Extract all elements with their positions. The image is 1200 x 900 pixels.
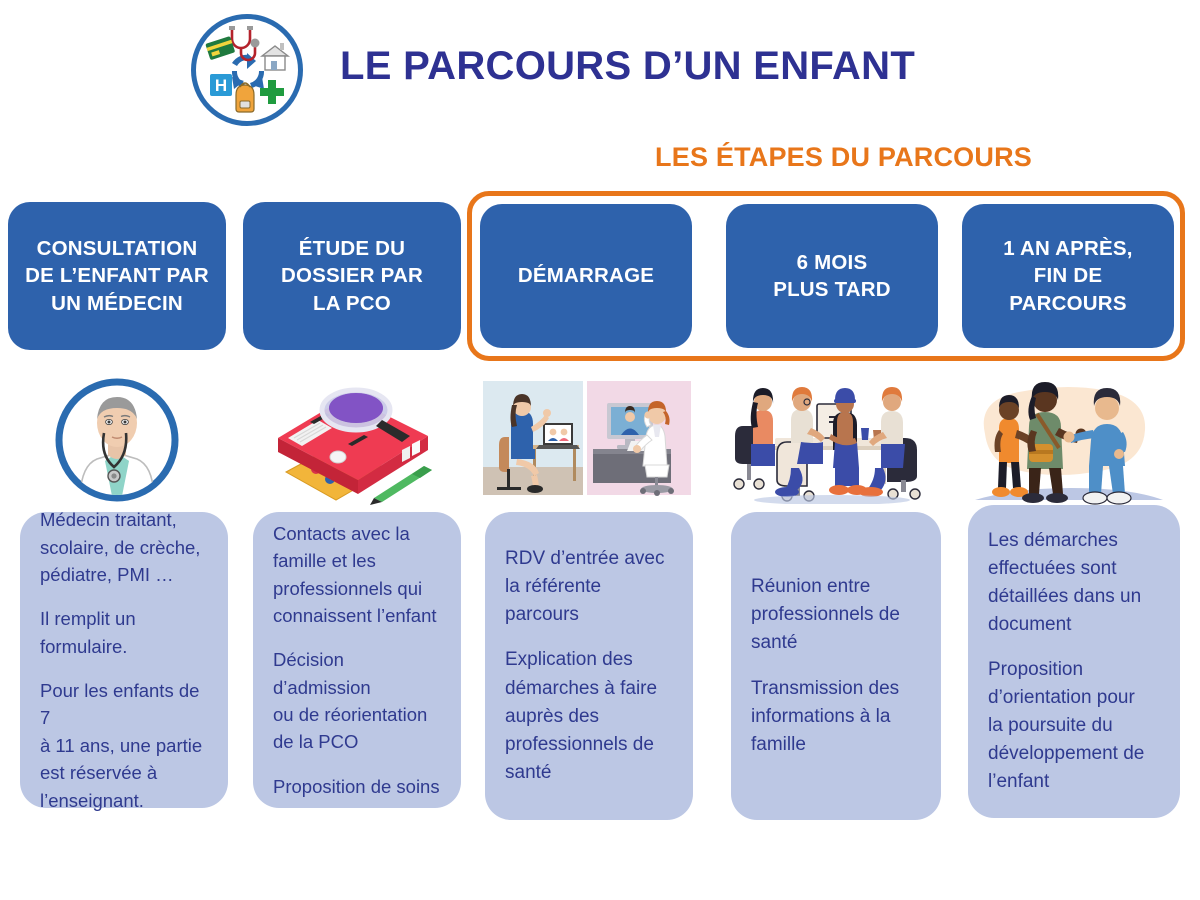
body-paragraph: Médecin traitant, scolaire, de crèche, p… [40,506,208,588]
step-body-box: Médecin traitant, scolaire, de crèche, p… [20,512,228,808]
step-column-consultation: CONSULTATION DE L’ENFANT PAR UN MÉDECIN [8,0,226,900]
step-header-label: 1 AN APRÈS, FIN DE PARCOURS [1003,235,1132,316]
patient-at-home-panel [483,381,583,495]
step-column-six-mois: 6 MOIS PLUS TARD [723,0,941,900]
meeting-participant [751,388,775,466]
step-header-label: CONSULTATION DE L’ENFANT PAR UN MÉDECIN [25,235,209,316]
body-paragraph: Explication des démarches à faire auprès… [505,646,673,787]
body-paragraph: Réunion entre professionnels de santé [751,573,921,657]
step-body-box: Les démarches effectuées sont détaillées… [968,505,1180,818]
step-body-box: Réunion entre professionnels de santé Tr… [731,512,941,820]
step-header-card[interactable]: ÉTUDE DU DOSSIER PAR LA PCO [243,202,461,350]
doctor-at-office-panel [587,381,691,496]
body-paragraph: Les démarches effectuées sont détaillées… [988,527,1160,639]
body-paragraph: Transmission des informations à la famil… [751,675,921,759]
step-header-label: ÉTUDE DU DOSSIER PAR LA PCO [281,235,423,316]
body-paragraph: Proposition d’orientation pour la poursu… [988,656,1160,797]
step-column-etude-dossier: ÉTUDE DU DOSSIER PAR LA PCO [243,0,461,900]
team-meeting-icon [723,370,941,510]
step-column-un-an-apres: 1 AN APRÈS, FIN DE PARCOURS [958,0,1176,900]
body-paragraph: Pour les enfants de 7 à 11 ans, une part… [40,677,208,814]
step-header-card[interactable]: 6 MOIS PLUS TARD [726,204,938,348]
body-paragraph: Proposition de soins [273,773,441,800]
video-consultation-icon [478,370,696,510]
step-header-card[interactable]: 1 AN APRÈS, FIN DE PARCOURS [962,204,1174,348]
step-header-card[interactable]: DÉMARRAGE [480,204,692,348]
file-magnifier-icon [243,370,461,510]
step-column-demarrage: DÉMARRAGE [478,0,696,900]
body-paragraph: RDV d’entrée avec la référente parcours [505,545,673,629]
step-header-label: DÉMARRAGE [518,262,654,289]
step-body-box: RDV d’entrée avec la référente parcours … [485,512,693,820]
body-paragraph: Il remplit un formulaire. [40,605,208,660]
body-paragraph: Décision d’admission ou de réorientation… [273,646,441,756]
step-body-box: Contacts avec la famille et les professi… [253,512,461,808]
family-caregiver-icon [958,370,1176,510]
step-header-card[interactable]: CONSULTATION DE L’ENFANT PAR UN MÉDECIN [8,202,226,350]
step-header-label: 6 MOIS PLUS TARD [773,249,891,303]
doctor-portrait-icon [8,370,226,510]
body-paragraph: Contacts avec la famille et les professi… [273,520,441,630]
